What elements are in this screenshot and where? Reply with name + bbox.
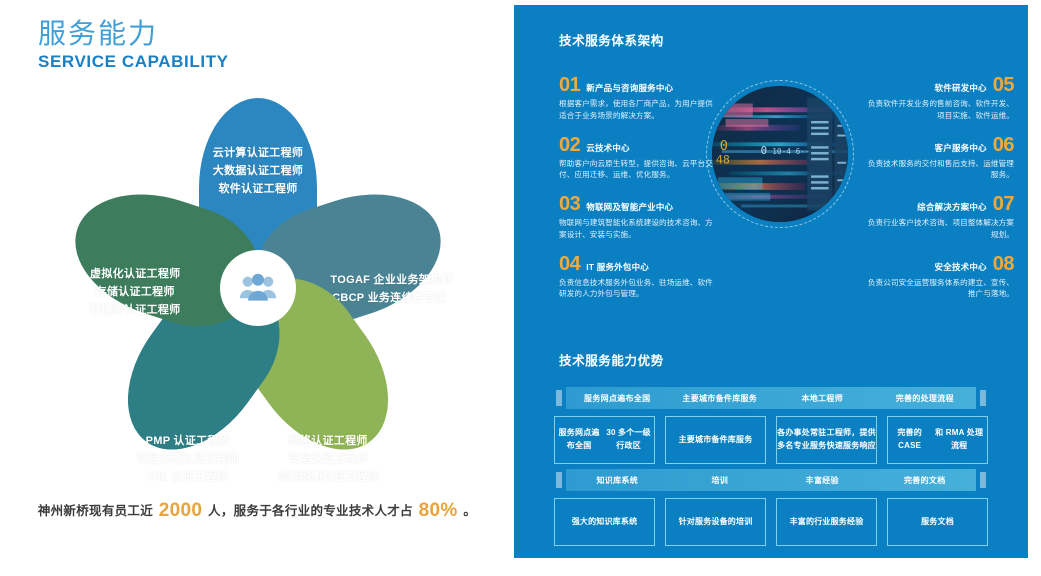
petal-2-line-2: 负载均衡认证工程师 <box>269 468 387 486</box>
item-desc-01: 根据客户需求，使用各厂商产品，为用户提供适合于业务场景的解决方案。 <box>559 98 719 122</box>
caption-text-3: 。 <box>463 504 476 518</box>
advantages-cell-row-2: 强大的知识库系统针对服务设备的培训丰富的行业服务经验服务文档 <box>554 498 988 546</box>
header-nub-left-icon <box>556 390 562 406</box>
advantage-cell-line: 服务文档 <box>921 516 954 529</box>
petal-0-labels: 云计算认证工程师大数据认证工程师软件认证工程师 <box>199 144 317 198</box>
architecture-item-04[interactable]: 04IT 服务外包中心负责信息技术服务外包业务、驻场运维、软件研发的人力外包与管… <box>559 254 719 301</box>
item-label-05: 软件研发中心 <box>935 82 987 94</box>
architecture-items-right: 软件研发中心05负责软件开发业务的售前咨询、软件开发、项目实施、软件运维。客户服… <box>862 75 1014 313</box>
item-label-07: 综合解决方案中心 <box>917 201 987 213</box>
caption-text-2: 人，服务于各行业的专业技术人才占 <box>208 504 413 518</box>
architecture-item-06[interactable]: 客户服务中心06负责技术服务的交付和售后支持、运维管理服务。 <box>862 135 1014 182</box>
petal-0-line-2: 软件认证工程师 <box>199 180 317 198</box>
svg-text:0: 0 <box>761 144 767 157</box>
advantage-cell-line: 完善的 CASE <box>888 427 931 453</box>
petal-2-line-1: 安全认证工程师 <box>269 450 387 468</box>
petal-1-line-1: CBCP 业务连续性专家 <box>330 289 448 307</box>
petal-0-line-1: 大数据认证工程师 <box>199 162 317 180</box>
svg-text:0: 0 <box>720 138 728 154</box>
title-english: SERVICE CAPABILITY <box>38 52 229 72</box>
item-desc-04: 负责信息技术服务外包业务、驻场运维、软件研发的人力外包与管理。 <box>559 277 719 301</box>
advantage-cell-line: 和 RMA 处理流程 <box>931 427 987 453</box>
advantage-cell-line: 服务网点遍布全国 <box>555 427 603 453</box>
petal-2-line-0: 网络认证工程师 <box>269 432 387 450</box>
advantages-cell-row-1: 服务网点遍布全国30 多个一级行政区主要城市备件库服务各办事处常驻多名专业服务工… <box>554 416 988 464</box>
item-number-04: 04 <box>559 254 580 274</box>
item-desc-05: 负责软件开发业务的售前咨询、软件开发、项目实施、软件运维。 <box>862 98 1014 122</box>
advantage-cell-1-0[interactable]: 强大的知识库系统 <box>554 498 655 546</box>
item-label-06: 客户服务中心 <box>935 142 987 154</box>
advantage-cell-0-1[interactable]: 主要城市备件库服务 <box>665 416 766 464</box>
petal-4-line-0: 虚拟化认证工程师 <box>76 265 194 283</box>
advantage-header-0-3: 完善的处理流程 <box>874 393 977 404</box>
petal-0-line-0: 云计算认证工程师 <box>199 144 317 162</box>
architecture-item-05[interactable]: 软件研发中心05负责软件开发业务的售前咨询、软件开发、项目实施、软件运维。 <box>862 75 1014 122</box>
advantage-cell-line: 强大的知识库系统 <box>572 516 638 529</box>
left-pane: 服务能力 SERVICE CAPABILITY 云计算认证工程师大数据认证工程师… <box>0 0 514 576</box>
item-desc-07: 负责行业客户技术咨询、项目整体解决方案规划。 <box>862 217 1014 241</box>
item-number-06: 06 <box>993 135 1014 155</box>
petal-3-labels: PMP 认证工程师项目管理认证工程师ITIL 认证工程师 <box>129 432 247 486</box>
item-number-02: 02 <box>559 135 580 155</box>
right-blue-panel: 技术服务体系架构 01新产品与咨询服务中心根据客户需求，使用各厂商产品，为用户提… <box>514 5 1028 558</box>
item-desc-08: 负责公司安全运营服务体系的建立、宣传、推广与落地。 <box>862 277 1014 301</box>
architecture-items-left: 01新产品与咨询服务中心根据客户需求，使用各厂商产品，为用户提供适合于业务场景的… <box>559 75 719 313</box>
advantages-table-1: 服务网点遍布全国主要城市备件库服务本地工程师完善的处理流程 服务网点遍布全国30… <box>554 387 988 464</box>
advantages-header-row-1: 服务网点遍布全国主要城市备件库服务本地工程师完善的处理流程 <box>566 387 976 409</box>
petal-4-line-1: 存储认证工程师 <box>76 283 194 301</box>
advantages-section-title: 技术服务能力优势 <box>559 350 664 369</box>
item-label-03: 物联网及智能产业中心 <box>586 201 673 213</box>
advantage-header-1-3: 完善的文档 <box>874 475 977 486</box>
advantage-header-0-1: 主要城市备件库服务 <box>669 393 772 404</box>
architecture-item-01[interactable]: 01新产品与咨询服务中心根据客户需求，使用各厂商产品，为用户提供适合于业务场景的… <box>559 75 719 122</box>
advantages-table-2: 知识库系统培训丰富经验完善的文档 强大的知识库系统针对服务设备的培训丰富的行业服… <box>554 469 988 546</box>
architecture-item-03[interactable]: 03物联网及智能产业中心物联网与建筑智能化系统建设的技术咨询、方案设计、安装与实… <box>559 194 719 241</box>
advantage-cell-line: 针对服务设备的培训 <box>679 516 753 529</box>
petal-3-line-2: ITIL 认证工程师 <box>129 468 247 486</box>
item-label-04: IT 服务外包中心 <box>586 261 649 273</box>
svg-text:10-4 6--: 10-4 6-- <box>772 147 809 156</box>
advantage-header-0-0: 服务网点遍布全国 <box>566 393 669 404</box>
item-label-02: 云技术中心 <box>586 142 630 154</box>
caption-text-1: 神州新桥现有员工近 <box>38 504 153 518</box>
caption-highlight-employees: 2000 <box>157 500 204 521</box>
employee-stat-caption: 神州新桥现有员工近 2000 人，服务于各行业的专业技术人才占 80% 。 <box>0 500 514 522</box>
photo-inner: 0 48 0 10-4 6-- <box>712 86 848 222</box>
people-group-icon <box>220 250 296 326</box>
item-label-08: 安全技术中心 <box>935 261 987 273</box>
title-chinese: 服务能力 <box>38 18 229 50</box>
advantage-cell-line: 备件库服务 <box>711 434 752 447</box>
header-nub-right-icon <box>980 390 986 406</box>
caption-highlight-percent: 80% <box>417 500 460 521</box>
advantage-header-1-1: 培训 <box>669 475 772 486</box>
advantage-header-0-2: 本地工程师 <box>771 393 874 404</box>
header-nub-right-icon <box>980 472 986 488</box>
advantage-cell-line: 主要城市 <box>679 434 712 447</box>
item-desc-06: 负责技术服务的交付和售后支持、运维管理服务。 <box>862 158 1014 182</box>
item-number-08: 08 <box>993 254 1014 274</box>
item-number-07: 07 <box>993 194 1014 214</box>
advantages-header-row-2: 知识库系统培训丰富经验完善的文档 <box>566 469 976 491</box>
petal-3-line-0: PMP 认证工程师 <box>129 432 247 450</box>
item-label-01: 新产品与咨询服务中心 <box>586 82 673 94</box>
architecture-item-02[interactable]: 02云技术中心帮助客户向云原生转型，提供咨询、云平台交付、应用迁移、运维、优化服… <box>559 135 719 182</box>
advantage-cell-line: 丰富的行业服务经验 <box>790 516 864 529</box>
advantage-header-1-2: 丰富经验 <box>771 475 874 486</box>
item-number-01: 01 <box>559 75 580 95</box>
petal-4-line-2: 数据库认证工程师 <box>76 301 194 319</box>
header-nub-left-icon <box>556 472 562 488</box>
petal-2-labels: 网络认证工程师安全认证工程师负载均衡认证工程师 <box>269 432 387 486</box>
item-desc-02: 帮助客户向云原生转型，提供咨询、云平台交付、应用迁移、运维、优化服务。 <box>559 158 719 182</box>
petal-1-labels: TOGAF 企业业务架构师CBCP 业务连续性专家 <box>330 271 448 307</box>
advantage-cell-1-1[interactable]: 针对服务设备的培训 <box>665 498 766 546</box>
item-desc-03: 物联网与建筑智能化系统建设的技术咨询、方案设计、安装与实施。 <box>559 217 719 241</box>
advantage-cell-1-3[interactable]: 服务文档 <box>887 498 988 546</box>
advantage-cell-0-2[interactable]: 各办事处常驻多名专业服务工程师，提供快速服务响应 <box>776 416 877 464</box>
item-number-03: 03 <box>559 194 580 214</box>
page-title: 服务能力 SERVICE CAPABILITY <box>38 18 229 72</box>
capability-flower-diagram: 云计算认证工程师大数据认证工程师软件认证工程师 TOGAF 企业业务架构师CBC… <box>18 88 498 488</box>
advantage-cell-0-3[interactable]: 完善的 CASE和 RMA 处理流程 <box>887 416 988 464</box>
item-number-05: 05 <box>993 75 1014 95</box>
advantage-cell-line: 工程师，提供快速服务响应 <box>827 427 877 453</box>
advantage-cell-line: 30 多个一级行政区 <box>603 427 654 453</box>
architecture-item-08[interactable]: 安全技术中心08负责公司安全运营服务体系的建立、宣传、推广与落地。 <box>862 254 1014 301</box>
petal-1-line-0: TOGAF 企业业务架构师 <box>330 271 448 289</box>
advantage-cell-line: 各办事处常驻多名专业服务 <box>777 427 827 453</box>
advantage-cell-0-0[interactable]: 服务网点遍布全国30 多个一级行政区 <box>554 416 655 464</box>
architecture-item-07[interactable]: 综合解决方案中心07负责行业客户技术咨询、项目整体解决方案规划。 <box>862 194 1014 241</box>
petal-3-line-1: 项目管理认证工程师 <box>129 450 247 468</box>
slide-root: 服务能力 SERVICE CAPABILITY 云计算认证工程师大数据认证工程师… <box>0 0 1041 576</box>
advantage-header-1-0: 知识库系统 <box>566 475 669 486</box>
petal-4-labels: 虚拟化认证工程师存储认证工程师数据库认证工程师 <box>76 265 194 319</box>
svg-text:48: 48 <box>716 153 730 167</box>
data-center-network-photo: 0 48 0 10-4 6-- <box>706 80 854 228</box>
advantage-cell-1-2[interactable]: 丰富的行业服务经验 <box>776 498 877 546</box>
architecture-section-title: 技术服务体系架构 <box>559 30 664 49</box>
